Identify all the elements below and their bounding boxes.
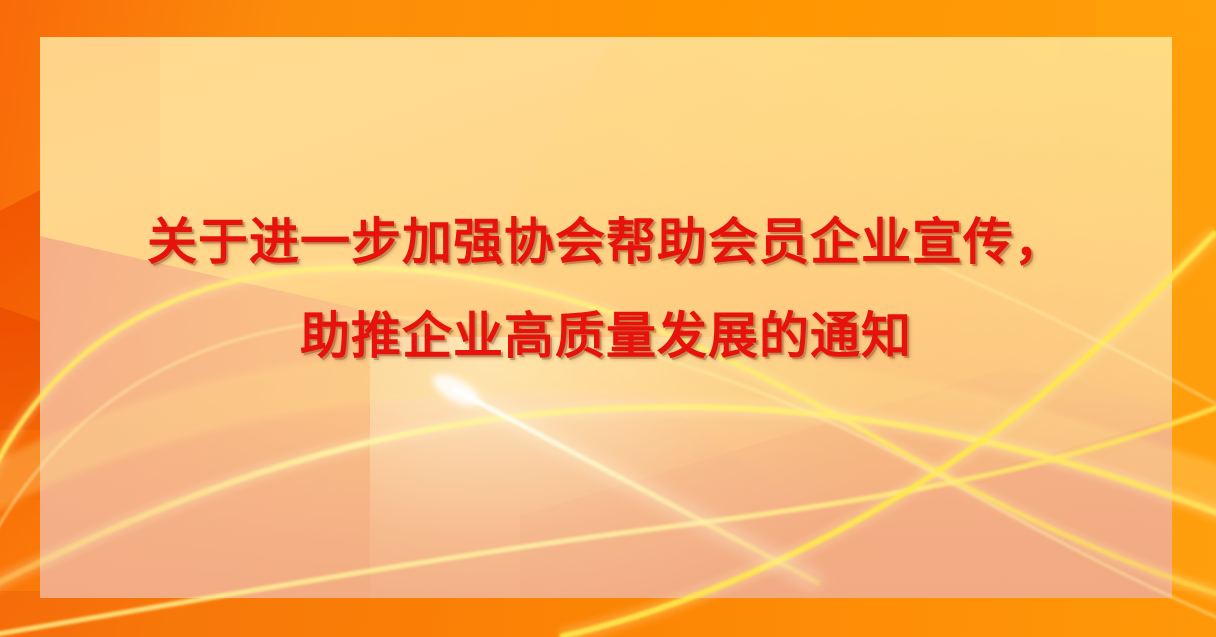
banner-title-line-1: 关于进一步加强协会帮助会员企业宣传， bbox=[147, 217, 1065, 267]
notice-banner: 关于进一步加强协会帮助会员企业宣传， 助推企业高质量发展的通知 bbox=[0, 0, 1216, 637]
banner-title-line-2: 助推企业高质量发展的通知 bbox=[300, 311, 912, 361]
banner-title-block: 关于进一步加强协会帮助会员企业宣传， 助推企业高质量发展的通知 bbox=[40, 37, 1172, 598]
